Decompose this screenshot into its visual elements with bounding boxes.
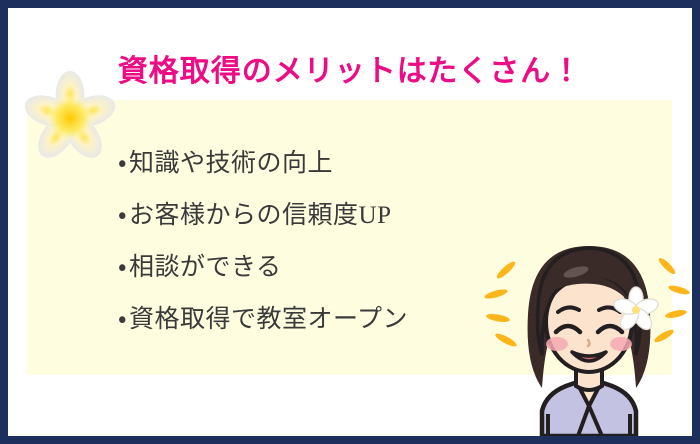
bullet-marker: ・ [118, 150, 127, 177]
bullet-marker: ・ [118, 254, 127, 281]
bullet-marker: ・ [118, 306, 127, 333]
list-item: ・資格取得で教室オープン [118, 294, 408, 346]
plumeria-flower-icon [22, 70, 118, 166]
promo-card: 資格取得のメリットはたくさん！ ・知識や技術の向上 ・お客様からの信頼度UP ・… [0, 0, 700, 444]
smiling-woman-icon [484, 236, 694, 436]
list-item: ・相談ができる [118, 242, 408, 294]
benefits-list: ・知識や技術の向上 ・お客様からの信頼度UP ・相談ができる ・資格取得で教室オ… [118, 138, 408, 346]
list-item-label: 知識や技術の向上 [129, 150, 333, 177]
list-item-label: 相談ができる [129, 254, 282, 281]
list-item: ・お客様からの信頼度UP [118, 190, 408, 242]
list-item-label: 資格取得で教室オープン [129, 306, 408, 333]
list-item: ・知識や技術の向上 [118, 138, 408, 190]
bullet-marker: ・ [118, 202, 127, 229]
list-item-label: お客様からの信頼度UP [129, 202, 391, 229]
